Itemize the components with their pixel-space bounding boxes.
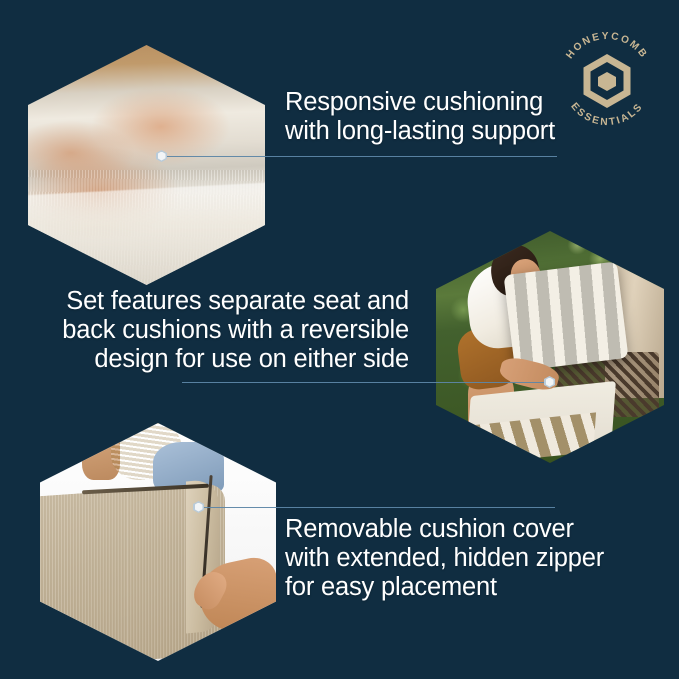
striped-back-cushion xyxy=(503,262,628,373)
cushion-fold-highlight xyxy=(28,182,265,285)
feature-caption-removable-cover: Removable cushion cover with extended, h… xyxy=(285,515,655,602)
feature-image-reversible-design xyxy=(436,231,664,463)
hand-unzipping-cushion-cover-photo xyxy=(40,423,276,661)
feature-caption-responsive-cushioning: Responsive cushioning with long-lasting … xyxy=(285,88,585,146)
callout-line-responsive-cushioning xyxy=(167,156,557,157)
hands-pressing-cushion-photo xyxy=(28,45,265,285)
feature-image-removable-cover xyxy=(40,423,276,661)
brand-badge: HONEYCOMB ESSENTIALS xyxy=(548,22,666,140)
feature-image-responsive-cushioning xyxy=(28,45,265,285)
feature-caption-reversible-design: Set features separate seat and back cush… xyxy=(24,287,409,374)
woman-placing-striped-cushion-photo xyxy=(436,231,664,463)
callout-line-removable-cover xyxy=(204,507,555,508)
infographic-canvas: Responsive cushioning with long-lasting … xyxy=(0,0,679,679)
hexagon-icon xyxy=(587,58,627,104)
callout-line-reversible-design xyxy=(182,382,550,383)
